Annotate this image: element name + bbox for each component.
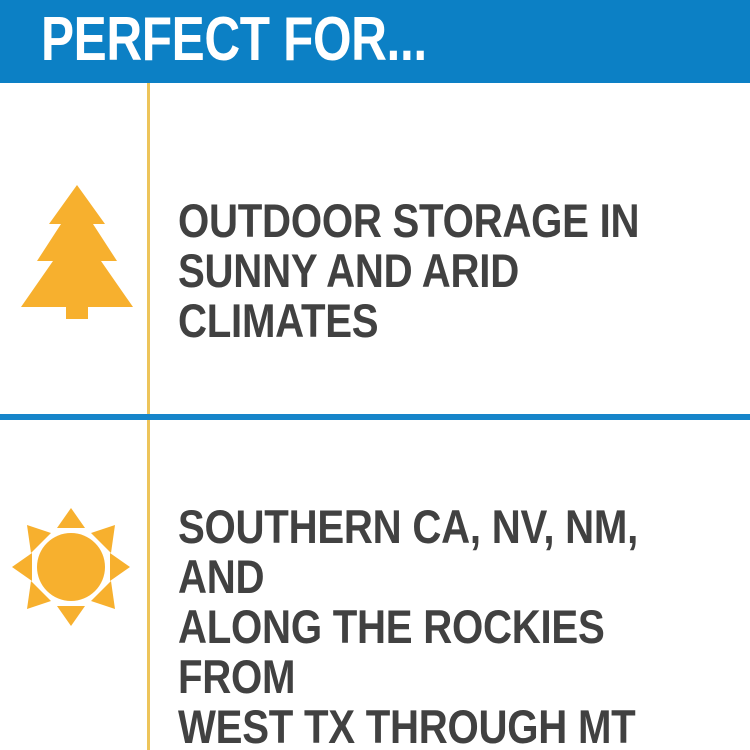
page-title: PERFECT FOR... [41,5,427,75]
feature-text-regions: SOUTHERN CA, NV, NM, AND ALONG THE ROCKI… [178,502,657,750]
icon-cell-tree [0,84,147,414]
pine-tree-icon [21,185,133,324]
perfect-for-infographic: PERFECT FOR... OUTDOOR STORAGE IN SUNNY … [0,0,750,750]
text-cell-regions: SOUTHERN CA, NV, NM, AND ALONG THE ROCKI… [178,420,738,750]
horizontal-section-divider [0,414,750,420]
text-cell-outdoor-storage: OUTDOOR STORAGE IN SUNNY AND ARID CLIMAT… [178,84,738,414]
feature-row-regions: SOUTHERN CA, NV, NM, AND ALONG THE ROCKI… [0,420,750,750]
feature-text-outdoor-storage: OUTDOOR STORAGE IN SUNNY AND ARID CLIMAT… [178,196,657,346]
icon-cell-sun [0,420,147,750]
sun-icon [12,508,130,631]
header-banner: PERFECT FOR... [0,0,750,83]
feature-row-outdoor-storage: OUTDOOR STORAGE IN SUNNY AND ARID CLIMAT… [0,84,750,414]
